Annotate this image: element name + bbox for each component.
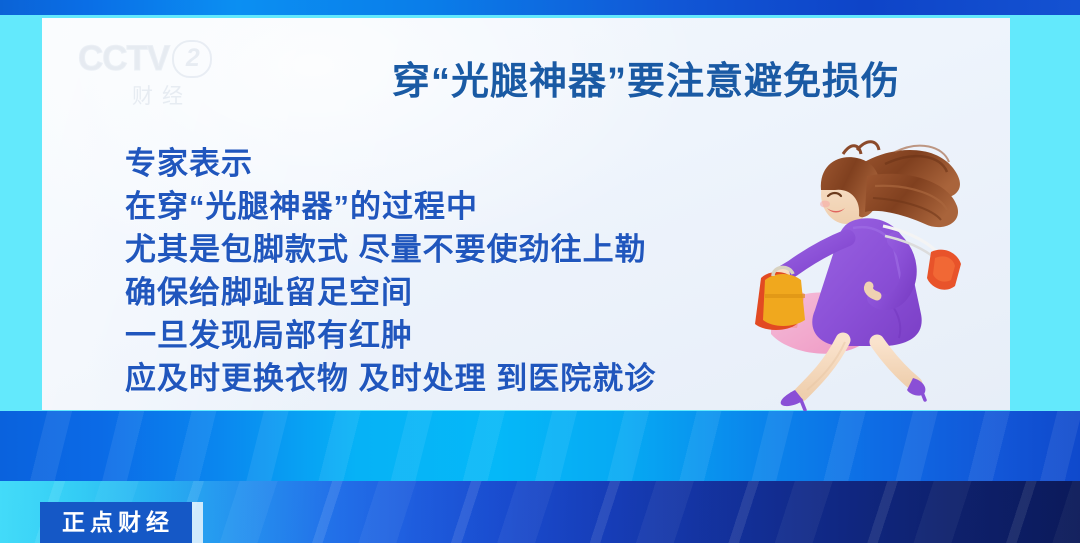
top-accent-strip [0,0,1080,15]
cctv-logo-mark: CCTV 2 [78,40,228,78]
program-badge: 正点财经 [40,502,203,543]
body-line: 确保给脚趾留足空间 [125,271,765,314]
headline-title: 穿“光腿神器”要注意避免损伤 [392,50,900,105]
body-line: 尤其是包脚款式 尽量不要使劲往上勒 [125,228,765,271]
body-line: 专家表示 [125,142,765,185]
walking-woman-illustration [735,128,1015,413]
mid-gradient-band [0,411,1080,481]
body-line: 一旦发现局部有红肿 [125,314,765,357]
body-line: 在穿“光腿神器”的过程中 [125,185,765,228]
cctv-logo-subtext: 财经 [78,80,228,110]
program-badge-accent [192,502,203,543]
cctv-channel-number: 2 [172,40,212,78]
mid-band-stripe-overlay [0,411,1080,481]
cctv-logo: CCTV 2 财经 [78,40,228,112]
body-text-block: 专家表示 在穿“光腿神器”的过程中 尤其是包脚款式 尽量不要使劲往上勒 确保给脚… [125,142,765,400]
orange-handbag [755,267,805,330]
body-line: 应及时更换衣物 及时处理 到医院就诊 [125,357,765,400]
program-badge-label: 正点财经 [40,502,192,543]
broadcast-screen: CCTV 2 财经 穿“光腿神器”要注意避免损伤 专家表示 在穿“光腿神器”的过… [0,0,1080,543]
cctv-logo-text: CCTV [78,40,169,78]
